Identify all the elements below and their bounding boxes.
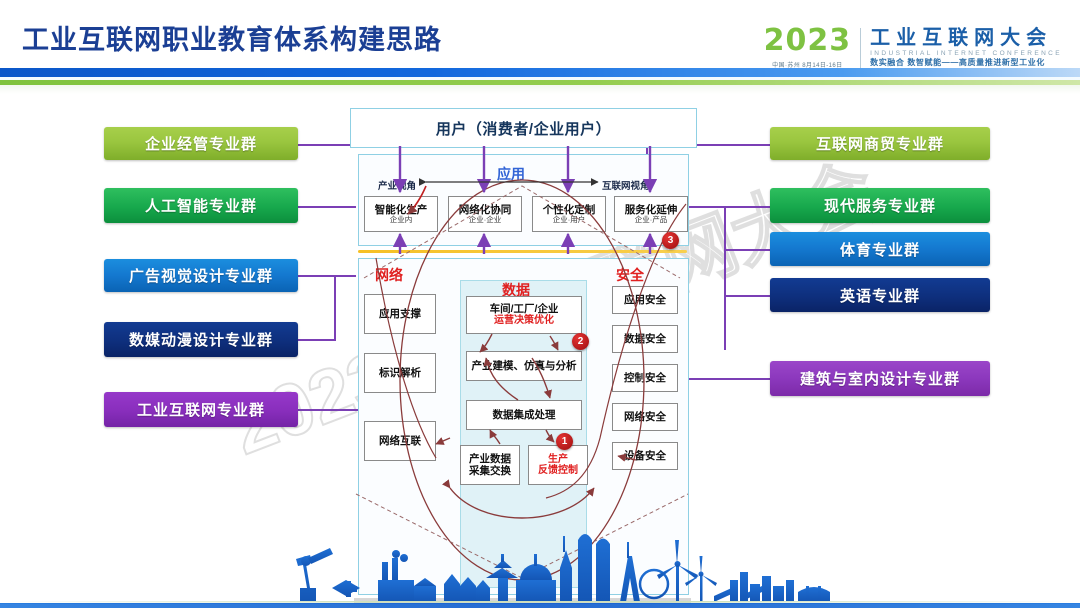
logo-name-block: 工业互联网大会 INDUSTRIAL INTERNET CONFERENCE 数… — [870, 27, 1062, 69]
app-box-2-sub: 企业·用户 — [553, 216, 586, 225]
group-pill-right-2-label: 体育专业群 — [840, 239, 920, 260]
connector-right-v — [724, 206, 726, 350]
data-box-1[interactable]: 产业建模、仿真与分析 — [466, 351, 582, 381]
app-box-3-title: 服务化延伸 — [625, 204, 678, 216]
group-pill-left-3-label: 数媒动漫设计专业群 — [129, 329, 273, 350]
network-box-1[interactable]: 标识解析 — [364, 353, 436, 393]
step-badge-3: 3 — [662, 232, 679, 249]
app-box-1-title: 网络化协同 — [459, 204, 512, 216]
user-bar-label: 用户（消费者/企业用户） — [436, 118, 611, 139]
data-box-3[interactable]: 产业数据 采集交换 — [460, 445, 520, 485]
connector-right-3 — [724, 249, 772, 251]
wind-turbine-icon-2 — [685, 556, 717, 602]
gear-icon — [332, 580, 360, 597]
logo-divider — [860, 28, 861, 68]
group-pill-left-2[interactable]: 广告视觉设计专业群 — [104, 259, 298, 292]
connector-left-2 — [296, 206, 356, 208]
group-pill-left-4-label: 工业互联网专业群 — [137, 399, 265, 420]
group-pill-right-1-label: 现代服务专业群 — [824, 195, 936, 216]
step-badge-2: 2 — [572, 333, 589, 350]
lattice-tower-icon — [620, 542, 640, 602]
logo-year-block: 2023 中国·苏州 8月14日-16日 — [764, 26, 852, 69]
label-security: 安全 — [616, 265, 644, 285]
robot-arm-icon — [296, 548, 333, 602]
label-application: 应用 — [497, 164, 525, 184]
skyscraper-icon — [578, 534, 610, 602]
conference-logo: 2023 中国·苏州 8月14日-16日 工业互联网大会 INDUSTRIAL … — [764, 26, 1062, 69]
header-rule-blue — [0, 68, 1080, 77]
group-pill-right-0[interactable]: 互联网商贸专业群 — [770, 127, 990, 160]
network-box-1-title: 标识解析 — [379, 367, 421, 379]
group-pill-right-0-label: 互联网商贸专业群 — [816, 133, 944, 154]
security-box-2[interactable]: 控制安全 — [612, 364, 678, 392]
dome-building-icon — [516, 554, 556, 602]
group-pill-left-4[interactable]: 工业互联网专业群 — [104, 392, 298, 427]
label-view-right: 互联网视角 — [602, 178, 650, 192]
app-box-1[interactable]: 网络化协同 企业·企业 — [448, 196, 522, 232]
data-box-2-title: 数据集成处理 — [493, 409, 556, 421]
security-box-4[interactable]: 设备安全 — [612, 442, 678, 470]
app-box-0-sub: 企业内 — [390, 216, 413, 225]
group-pill-right-1[interactable]: 现代服务专业群 — [770, 188, 990, 223]
group-pill-left-3[interactable]: 数媒动漫设计专业群 — [104, 322, 298, 357]
group-pill-right-4[interactable]: 建筑与室内设计专业群 — [770, 361, 990, 396]
architecture-diagram: 用户（消费者/企业用户） 应用 产业视角 互联网视角 网络 数据 安全 智能化生… — [350, 108, 695, 518]
connector-left-3 — [296, 275, 356, 277]
data-box-2[interactable]: 数据集成处理 — [466, 400, 582, 430]
step-badge-1: 1 — [556, 433, 573, 450]
arch-bridge-icon — [798, 586, 830, 602]
security-box-1-title: 数据安全 — [624, 333, 666, 345]
factory-icon — [378, 550, 436, 602]
crane-icon — [444, 574, 490, 602]
data-box-3-title: 产业数据 — [469, 453, 511, 465]
logo-slogan: 数实融合 数智赋能——高质量推进新型工业化 — [870, 59, 1062, 68]
city-blocks-icon — [730, 572, 794, 602]
app-box-1-sub: 企业·企业 — [469, 216, 502, 225]
app-box-0-title: 智能化生产 — [375, 204, 428, 216]
wind-turbine-icon — [657, 540, 698, 602]
header-rule-fade — [0, 85, 1080, 94]
security-box-2-title: 控制安全 — [624, 372, 666, 384]
pagoda-icon — [486, 554, 518, 602]
group-pill-left-1-label: 人工智能专业群 — [145, 195, 257, 216]
data-box-3-sub: 采集交换 — [469, 465, 511, 477]
app-box-3-sub: 企业·产品 — [635, 216, 668, 225]
network-box-0[interactable]: 应用支撑 — [364, 294, 436, 334]
logo-date: 中国·苏州 8月14日-16日 — [764, 60, 852, 69]
group-pill-right-3[interactable]: 英语专业群 — [770, 278, 990, 312]
connector-right-4 — [724, 295, 772, 297]
user-bar: 用户（消费者/企业用户） — [350, 108, 697, 148]
data-box-4-line1: 生产 — [548, 454, 568, 466]
group-pill-left-1[interactable]: 人工智能专业群 — [104, 188, 298, 223]
label-network: 网络 — [375, 265, 403, 285]
slide-canvas: 2023工业互联网大会 工业互联网职业教育体系构建思路 2023 中国·苏州 8… — [0, 0, 1080, 608]
data-box-0-sub: 运营决策优化 — [494, 315, 554, 327]
city-skyline-graphic — [0, 528, 1080, 608]
security-box-0-title: 应用安全 — [624, 294, 666, 306]
app-box-0[interactable]: 智能化生产 企业内 — [364, 196, 438, 232]
connector-left-4 — [296, 339, 336, 341]
data-box-4[interactable]: 生产 反馈控制 — [528, 445, 588, 485]
data-box-0[interactable]: 车间/工厂/企业 运营决策优化 — [466, 296, 582, 334]
data-box-4-line2: 反馈控制 — [538, 465, 578, 477]
tower-icon — [560, 536, 572, 602]
group-pill-left-0-label: 企业经管专业群 — [145, 133, 257, 154]
group-pill-right-2[interactable]: 体育专业群 — [770, 232, 990, 266]
group-pill-right-3-label: 英语专业群 — [840, 285, 920, 306]
connector-left-34-v — [334, 275, 336, 341]
logo-name-en: INDUSTRIAL INTERNET CONFERENCE — [870, 50, 1062, 57]
network-box-0-title: 应用支撑 — [379, 308, 421, 320]
logo-name-cn: 工业互联网大会 — [870, 27, 1062, 49]
security-box-0[interactable]: 应用安全 — [612, 286, 678, 314]
app-box-2-title: 个性化定制 — [543, 204, 596, 216]
security-box-3[interactable]: 网络安全 — [612, 403, 678, 431]
security-box-4-title: 设备安全 — [624, 450, 666, 462]
group-pill-left-0[interactable]: 企业经管专业群 — [104, 127, 298, 160]
data-box-1-title: 产业建模、仿真与分析 — [472, 360, 577, 372]
layer-divider-yellow — [358, 250, 687, 253]
logo-year: 2023 — [764, 26, 852, 56]
group-pill-right-4-label: 建筑与室内设计专业群 — [800, 368, 960, 389]
network-box-2[interactable]: 网络互联 — [364, 421, 436, 461]
group-pill-left-2-label: 广告视觉设计专业群 — [129, 265, 273, 286]
security-box-3-title: 网络安全 — [624, 411, 666, 423]
page-title: 工业互联网职业教育体系构建思路 — [22, 18, 442, 57]
network-box-2-title: 网络互联 — [379, 435, 421, 447]
app-box-3[interactable]: 服务化延伸 企业·产品 — [614, 196, 688, 232]
label-view-left: 产业视角 — [378, 178, 416, 192]
security-box-1[interactable]: 数据安全 — [612, 325, 678, 353]
data-box-0-title: 车间/工厂/企业 — [490, 303, 559, 315]
app-box-2[interactable]: 个性化定制 企业·用户 — [532, 196, 606, 232]
